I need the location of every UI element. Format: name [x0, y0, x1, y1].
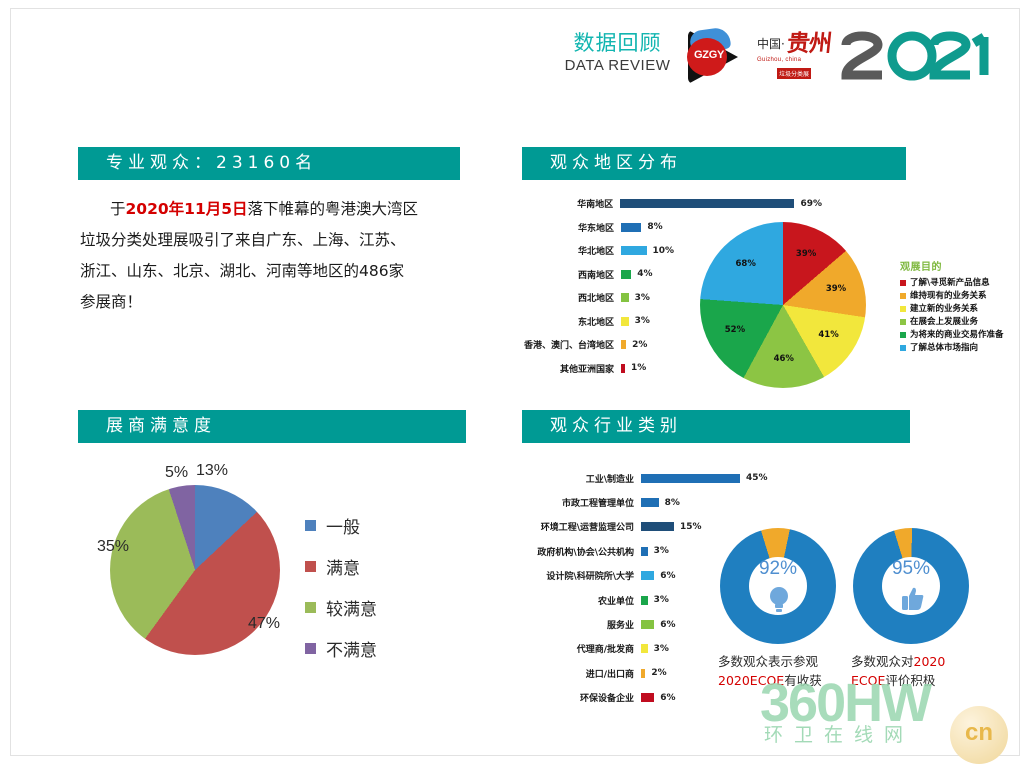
legend-label: 维持现有的业务关系 — [910, 290, 987, 302]
satisfaction-legend-item: 一般 — [305, 513, 377, 538]
bar-label: 服务业 — [522, 618, 641, 631]
satisfaction-label-3: 5% — [165, 464, 188, 482]
bar-fill — [641, 620, 654, 629]
satisfaction-legend-swatch — [305, 643, 316, 654]
legend-swatch — [900, 319, 906, 325]
visit-purpose-pie-chart: 39%39%41%46%52%68% — [700, 222, 868, 390]
header-title-cn: 数据回顾 — [555, 30, 680, 56]
legend-label: 建立新的业务关系 — [910, 303, 978, 315]
header-title-en: DATA REVIEW — [555, 56, 680, 76]
paragraph-line-3: 浙江、山东、北京、湖北、河南等地区的486家 — [80, 256, 456, 287]
donut-harvest-caption: 多数观众表示参观 2020ECOE有收获 — [718, 652, 868, 690]
bar-fill — [641, 522, 674, 531]
satisfaction-pie-chart — [110, 485, 285, 660]
legend-label: 了解\寻觅新产品信息 — [910, 277, 990, 289]
bar-label: 西北地区 — [522, 291, 621, 304]
paragraph-line-2: 垃圾分类处理展吸引了来自广东、上海、江苏、 — [80, 225, 456, 256]
bar-label: 香港、澳门、台湾地区 — [522, 338, 621, 351]
bar-row: 市政工程管理单位8% — [522, 490, 792, 514]
legend-item: 为将来的商业交易作准备 — [900, 329, 1004, 341]
panel-satisfaction-title: 展商满意度 — [78, 410, 466, 443]
bar-value: 2% — [645, 668, 666, 678]
guizhou-logo-badge: 垃圾分类展 — [777, 68, 811, 79]
donut-positive-caption-year: 2020 — [914, 654, 946, 669]
guizhou-logo-main: 贵州 — [786, 32, 833, 56]
bar-value: 8% — [641, 222, 662, 232]
paragraph-line-4: 参展商！ — [80, 287, 456, 318]
bar-value: 3% — [629, 316, 650, 326]
bar-label: 农业单位 — [522, 594, 641, 607]
thumbs-up-icon — [900, 585, 926, 611]
pie-slice-label: 39% — [796, 249, 816, 259]
bar-label: 华南地区 — [522, 197, 620, 210]
pie-slice-label: 39% — [826, 284, 846, 294]
bar-fill — [621, 317, 629, 326]
satisfaction-legend-swatch — [305, 520, 316, 531]
bar-fill — [621, 270, 631, 279]
bar-value: 1% — [625, 363, 646, 373]
donut-positive-caption: 多数观众对2020 ECOE评价积极 — [851, 652, 1001, 690]
bar-value: 2% — [626, 340, 647, 350]
legend-item: 了解\寻觅新产品信息 — [900, 277, 1004, 289]
bar-fill — [641, 644, 648, 653]
legend-swatch — [900, 345, 906, 351]
donut-harvest-caption-red: 2020ECOE — [718, 673, 784, 688]
satisfaction-legend-item: 不满意 — [305, 636, 377, 661]
bar-label: 华北地区 — [522, 244, 621, 257]
bar-value: 3% — [648, 644, 669, 654]
bar-value: 3% — [629, 293, 650, 303]
satisfaction-label-2: 35% — [97, 538, 129, 556]
bar-label: 东北地区 — [522, 315, 621, 328]
legend-item: 在展会上发展业务 — [900, 316, 1004, 328]
satisfaction-legend-swatch — [305, 561, 316, 572]
bar-fill — [621, 223, 641, 232]
bar-fill — [641, 498, 659, 507]
bar-value: 4% — [631, 269, 652, 279]
donut-positive-caption-line1: 多数观众对 — [851, 654, 914, 669]
bar-label: 华东地区 — [522, 221, 621, 234]
legend-item: 维持现有的业务关系 — [900, 290, 1004, 302]
header-title-block: 数据回顾 DATA REVIEW — [555, 30, 680, 76]
donut-positive-percent: 95% — [853, 558, 969, 580]
gzgy-logo-text: GZGY — [689, 49, 729, 61]
satisfaction-legend-label: 满意 — [326, 554, 360, 579]
bar-row: 工业\制造业45% — [522, 466, 792, 490]
bar-fill — [621, 246, 647, 255]
bar-label: 工业\制造业 — [522, 472, 641, 485]
bar-label: 政府机构\协会\公共机构 — [522, 545, 641, 558]
legend-swatch — [900, 332, 906, 338]
visit-purpose-legend-title: 观展目的 — [900, 258, 1004, 273]
panel-visitors-title: 专业观众：23160名 — [78, 147, 460, 180]
bar-value: 6% — [654, 571, 675, 581]
gzgy-logo-icon: GZGY — [684, 26, 750, 88]
bar-fill — [641, 474, 740, 483]
bar-label: 市政工程管理单位 — [522, 496, 641, 509]
panel-industry-title: 观众行业类别 — [522, 410, 910, 443]
bar-label: 西南地区 — [522, 268, 621, 281]
donut-harvest-chart: 92% — [720, 528, 836, 644]
bar-label: 代理商/批发商 — [522, 642, 641, 655]
panel-region: 观众地区分布 — [522, 147, 906, 180]
bar-fill — [641, 693, 654, 702]
bar-fill — [620, 199, 794, 208]
pie-slice-label: 52% — [725, 325, 745, 335]
bar-value: 10% — [647, 246, 675, 256]
legend-label: 了解总体市场指向 — [910, 342, 978, 354]
satisfaction-label-0: 13% — [196, 462, 228, 480]
donut-harvest-percent: 92% — [720, 558, 836, 580]
satisfaction-legend-item: 较满意 — [305, 595, 377, 620]
satisfaction-label-1: 47% — [248, 615, 280, 633]
bar-row: 华南地区69% — [522, 192, 822, 216]
paragraph-rest: 落下帷幕的粤港澳大湾区 — [248, 200, 419, 218]
panel-industry: 观众行业类别 — [522, 410, 910, 443]
bar-value: 6% — [654, 620, 675, 630]
bar-label: 其他亚洲国家 — [522, 362, 621, 375]
legend-swatch — [900, 280, 906, 286]
bar-value: 3% — [648, 546, 669, 556]
satisfaction-legend-label: 一般 — [326, 513, 360, 538]
legend-swatch — [900, 293, 906, 299]
donut-positive-chart: 95% — [853, 528, 969, 644]
bar-fill — [621, 293, 629, 302]
pie-slice-label: 46% — [774, 354, 794, 364]
legend-swatch — [900, 306, 906, 312]
bar-label: 进口/出口商 — [522, 667, 641, 680]
slide-header: 数据回顾 DATA REVIEW GZGY 中国· 贵州 Guizhou, ch… — [555, 24, 1005, 96]
bar-value: 69% — [794, 199, 822, 209]
visit-purpose-legend-items: 了解\寻觅新产品信息维持现有的业务关系建立新的业务关系在展会上发展业务为将来的商… — [900, 277, 1004, 354]
lightbulb-icon — [767, 585, 791, 613]
visit-purpose-legend: 观展目的 了解\寻觅新产品信息维持现有的业务关系建立新的业务关系在展会上发展业务… — [900, 258, 1004, 355]
legend-item: 了解总体市场指向 — [900, 342, 1004, 354]
bar-label: 设计院\科研院所\大学 — [522, 569, 641, 582]
slide-canvas: 数据回顾 DATA REVIEW GZGY 中国· 贵州 Guizhou, ch… — [0, 0, 1031, 772]
pie-slice-label: 41% — [818, 330, 838, 340]
panel-visitors-paragraph: 于2020年11月5日落下帷幕的粤港澳大湾区 垃圾分类处理展吸引了来自广东、上海… — [78, 180, 460, 318]
bar-value: 15% — [674, 522, 702, 532]
bar-label: 环境工程\运营监理公司 — [522, 520, 641, 533]
bar-fill — [641, 571, 654, 580]
satisfaction-legend-label: 较满意 — [326, 595, 377, 620]
legend-label: 为将来的商业交易作准备 — [910, 329, 1004, 341]
bar-label: 环保设备企业 — [522, 691, 641, 704]
donut-harvest-caption-line1: 多数观众表示参观 — [718, 652, 868, 671]
bar-fill — [641, 596, 648, 605]
satisfaction-legend-label: 不满意 — [326, 636, 377, 661]
satisfaction-legend-swatch — [305, 602, 316, 613]
donut-harvest-caption-rest: 有收获 — [784, 673, 822, 688]
bar-value: 45% — [740, 473, 768, 483]
bar-fill — [641, 547, 648, 556]
donut-positive-caption-red: ECOE — [851, 673, 885, 688]
panel-region-title: 观众地区分布 — [522, 147, 906, 180]
bar-value: 3% — [648, 595, 669, 605]
paragraph-lead: 于 — [110, 200, 126, 218]
bar-value: 6% — [654, 693, 675, 703]
legend-item: 建立新的业务关系 — [900, 303, 1004, 315]
satisfaction-legend: 一般满意较满意不满意 — [305, 513, 377, 677]
legend-label: 在展会上发展业务 — [910, 316, 978, 328]
year-2021-logo-icon — [838, 27, 998, 85]
paragraph-date-highlight: 2020年11月5日 — [126, 200, 248, 218]
panel-satisfaction: 展商满意度 — [78, 410, 466, 443]
guizhou-logo-prefix: 中国· — [757, 35, 785, 56]
satisfaction-legend-item: 满意 — [305, 554, 377, 579]
donut-positive-caption-rest: 评价积极 — [885, 673, 935, 688]
panel-visitors: 专业观众：23160名 于2020年11月5日落下帷幕的粤港澳大湾区 垃圾分类处… — [78, 147, 460, 318]
bar-value: 8% — [659, 498, 680, 508]
pie-slice-label: 68% — [736, 259, 756, 269]
guizhou-logo-icon: 中国· 贵州 Guizhou, china 垃圾分类展 — [757, 32, 837, 82]
